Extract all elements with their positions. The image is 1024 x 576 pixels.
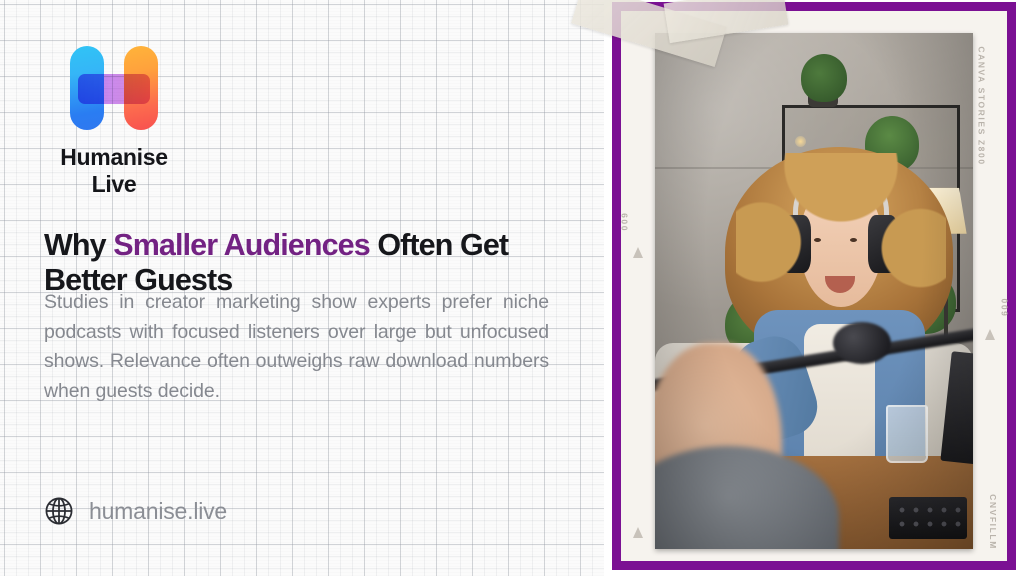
body-paragraph: Studies in creator marketing show expert…: [44, 288, 549, 407]
slide-canvas: Humanise Live Why Smaller Audiences Ofte…: [0, 0, 1024, 576]
scene-plant: [801, 54, 847, 102]
brand-block: Humanise Live: [46, 42, 266, 198]
scene-microphone-head: [833, 322, 891, 364]
mixer-knobs: [895, 503, 961, 533]
globe-icon: [44, 496, 74, 526]
scene-water-glass: [886, 405, 928, 463]
headline-accent: Smaller Audiences: [113, 228, 370, 262]
film-triangle-marker: [633, 527, 643, 538]
website-url[interactable]: humanise.live: [89, 498, 227, 525]
film-marking-right-code: 009: [1000, 299, 1010, 318]
scene-audio-mixer: [889, 497, 967, 539]
film-marking-film-name: CNVFILLM: [988, 494, 998, 550]
photo-frame: 009 CANVA STORIES Z800 009 CNVFILLM: [604, 0, 1024, 576]
photo-scene: [655, 33, 973, 549]
person-hair-front: [736, 153, 946, 351]
film-marking-brand: CANVA STORIES Z800: [976, 46, 986, 165]
photo-purple-border: 009 CANVA STORIES Z800 009 CNVFILLM: [612, 2, 1016, 570]
brand-name: Humanise Live: [46, 144, 182, 198]
film-triangle-marker: [633, 247, 643, 258]
footer-website[interactable]: humanise.live: [44, 496, 227, 526]
film-triangle-marker: [985, 329, 995, 340]
humanise-h-logo-icon: [68, 42, 160, 134]
left-content-panel: Humanise Live Why Smaller Audiences Ofte…: [0, 0, 604, 576]
headline-part-1: Why: [44, 228, 113, 262]
film-marking-left-code: 009: [619, 212, 629, 231]
logo-crossbar: [78, 74, 150, 104]
podcast-photo: [655, 33, 973, 549]
